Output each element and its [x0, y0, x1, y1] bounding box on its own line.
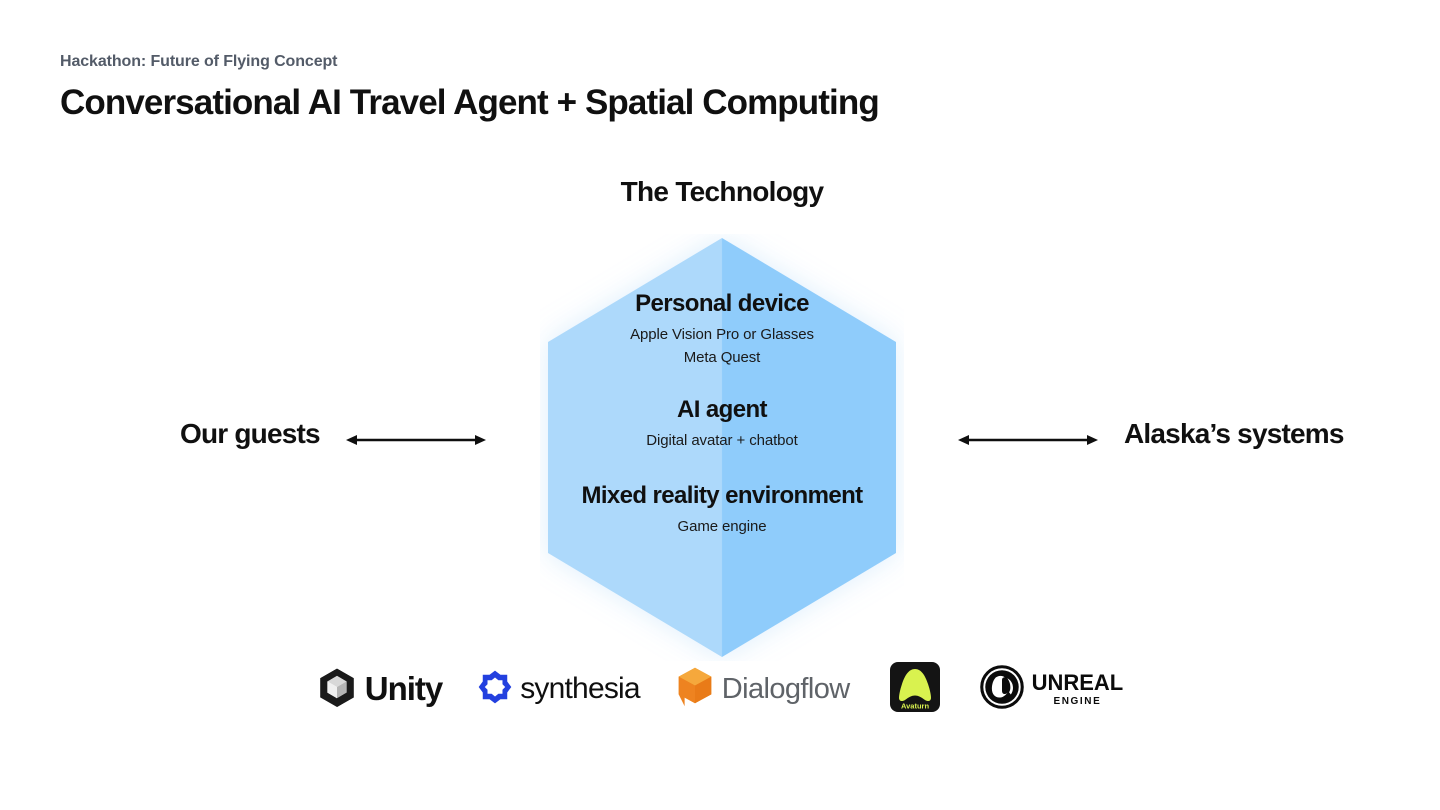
- logo-dialogflow-label: Dialogflow: [722, 673, 850, 706]
- hexagon-block-ai-agent: AI agent Digital avatar + chatbot: [430, 396, 1014, 453]
- partner-logo-strip: Unity synthesia: [0, 660, 1440, 718]
- unreal-wordmark: UNREAL ENGINE: [1032, 672, 1124, 707]
- logo-unity: Unity: [317, 660, 443, 718]
- hexagon-block-heading: Mixed reality environment: [430, 482, 1014, 511]
- logo-unreal-engine: UNREAL ENGINE: [980, 660, 1124, 718]
- diagram-left-label: Our guests: [180, 418, 320, 450]
- logo-synthesia: synthesia: [478, 660, 640, 718]
- avaturn-arch-icon: Avaturn: [890, 662, 940, 717]
- hexagon-block-mixed-reality: Mixed reality environment Game engine: [430, 482, 1014, 539]
- logo-synthesia-label: synthesia: [520, 672, 640, 706]
- hexagon-block-heading: Personal device: [430, 290, 1014, 319]
- technology-diagram: The Technology Our guests Alaska’s syste…: [0, 160, 1440, 760]
- hexagon-block-subline: Game engine: [430, 516, 1014, 539]
- hexagon-block-personal-device: Personal device Apple Vision Pro or Glas…: [430, 290, 1014, 369]
- hexagon-content: Personal device Apple Vision Pro or Glas…: [430, 234, 1014, 661]
- svg-text:Avaturn: Avaturn: [901, 701, 929, 710]
- unity-cube-icon: [317, 667, 357, 712]
- page-header: Hackathon: Future of Flying Concept Conv…: [60, 52, 1380, 123]
- logo-avaturn: Avaturn: [890, 660, 940, 718]
- logo-unity-label: Unity: [365, 670, 443, 708]
- page-title: Conversational AI Travel Agent + Spatial…: [60, 83, 1380, 123]
- hexagon-block-heading: AI agent: [430, 396, 1014, 425]
- hexagon-block-subline: Digital avatar + chatbot: [430, 430, 1014, 453]
- logo-unreal-sublabel: ENGINE: [1053, 697, 1101, 707]
- eyebrow-text: Hackathon: Future of Flying Concept: [60, 52, 1380, 73]
- diagram-right-label: Alaska’s systems: [1124, 418, 1344, 450]
- dialogflow-cube-icon: [676, 667, 714, 712]
- unreal-u-icon: [980, 665, 1024, 714]
- logo-dialogflow: Dialogflow: [676, 660, 850, 718]
- hexagon-block-subline: Apple Vision Pro or Glasses: [430, 324, 1014, 347]
- hexagon-block-subline: Meta Quest: [430, 347, 1014, 370]
- technology-hexagon: Personal device Apple Vision Pro or Glas…: [540, 234, 904, 661]
- logo-unreal-label: UNREAL: [1032, 672, 1124, 694]
- diagram-center-label: The Technology: [2, 176, 1440, 208]
- synthesia-ring-icon: [478, 670, 512, 709]
